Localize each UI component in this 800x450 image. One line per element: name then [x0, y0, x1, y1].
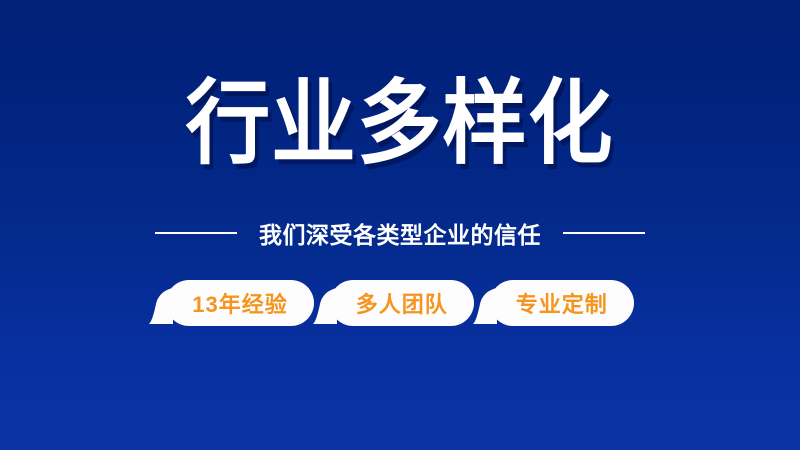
title-container: 行业多样化 [0, 78, 800, 170]
divider-line-right [563, 232, 645, 234]
subtitle-container: 我们深受各类型企业的信任 [0, 218, 800, 248]
badge-row: 13年经验 多人团队 专业定制 [0, 280, 800, 336]
promo-banner: 行业多样化 我们深受各类型企业的信任 13年经验 多人团队 [0, 0, 800, 450]
badge-team[interactable]: 多人团队 [330, 280, 474, 326]
ribbon-tail-icon [473, 288, 497, 332]
badge-customization[interactable]: 专业定制 [490, 280, 634, 326]
badge-team-label: 多人团队 [356, 287, 448, 319]
badge-experience[interactable]: 13年经验 [166, 280, 313, 326]
ribbon-tail-icon [149, 288, 173, 332]
ribbon-tail-icon [313, 288, 337, 332]
badge-experience-label: 13年经验 [192, 287, 287, 319]
page-title: 行业多样化 [186, 78, 614, 170]
subtitle-text: 我们深受各类型企业的信任 [259, 216, 541, 250]
badge-customization-label: 专业定制 [516, 287, 608, 319]
divider-line-left [155, 232, 237, 234]
